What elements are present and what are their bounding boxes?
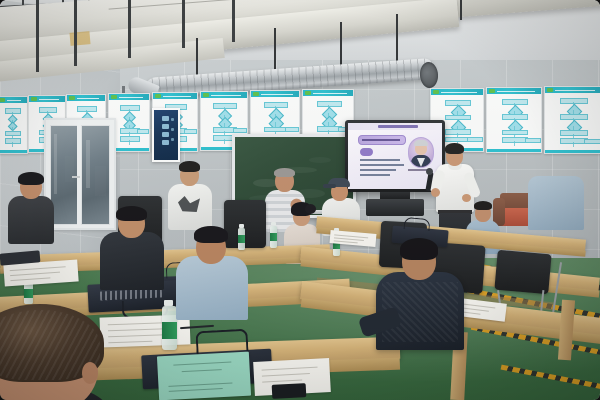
flowchart-connector bbox=[129, 140, 130, 145]
wall-poster-flowchart bbox=[544, 86, 600, 154]
poster-logo-icon bbox=[111, 95, 117, 99]
slide-section-badge bbox=[360, 148, 373, 156]
poster-footer-bar bbox=[487, 149, 541, 152]
wall-poster-flowchart bbox=[0, 96, 28, 154]
poster-logo-icon bbox=[69, 96, 75, 100]
poster-logo-icon bbox=[433, 90, 439, 94]
attendee-torso bbox=[176, 256, 248, 320]
microphone-head-icon bbox=[426, 168, 433, 175]
poster-logo-icon bbox=[0, 98, 5, 102]
attendee-hair bbox=[400, 238, 438, 260]
hair-bun bbox=[305, 204, 316, 214]
slide-body-line bbox=[360, 159, 400, 161]
flowchart-connector bbox=[224, 139, 225, 144]
door-glass-panel-left bbox=[50, 125, 79, 225]
flowchart-side-node bbox=[525, 138, 541, 143]
poster-title-text bbox=[119, 97, 143, 98]
duct-hanger-rod bbox=[182, 0, 185, 48]
duct-hanger-rod bbox=[232, 0, 235, 42]
poster-title-text bbox=[261, 94, 293, 95]
flowchart-connector bbox=[12, 142, 13, 147]
chair[interactable] bbox=[494, 250, 551, 295]
poster-logo-icon bbox=[547, 88, 553, 92]
chair[interactable] bbox=[224, 200, 266, 248]
attendee-hair bbox=[274, 168, 295, 177]
presenter-hair bbox=[445, 143, 464, 154]
screen-stand-base bbox=[366, 199, 424, 216]
duct-hanger-rod bbox=[460, 0, 462, 20]
flowchart-connector bbox=[573, 142, 574, 147]
duct-hanger-rod bbox=[36, 0, 39, 72]
poster-logo-icon bbox=[305, 91, 311, 95]
attendee-torso bbox=[528, 176, 584, 230]
door-handle[interactable] bbox=[72, 176, 80, 178]
flowchart-side-node bbox=[285, 127, 299, 132]
poster-title-text bbox=[77, 98, 99, 99]
slide-body-line bbox=[360, 164, 404, 166]
presenter-hand bbox=[431, 188, 440, 197]
portrait-hair bbox=[414, 140, 428, 146]
poster-footer-bar bbox=[0, 150, 27, 153]
attendee-hair bbox=[179, 161, 200, 172]
duct-hanger-rod bbox=[74, 0, 77, 66]
double-glass-door[interactable] bbox=[44, 118, 116, 230]
flowchart-side-node bbox=[584, 139, 600, 144]
flowchart-connector bbox=[514, 141, 515, 146]
poster-footer-bar bbox=[545, 150, 600, 153]
wall-poster-flowchart bbox=[486, 87, 542, 153]
poster-title-text bbox=[211, 95, 241, 96]
flowchart-side-node bbox=[233, 128, 247, 133]
mint-notebook[interactable] bbox=[157, 352, 251, 400]
poster-title-text bbox=[163, 96, 191, 97]
poster-title-text bbox=[39, 99, 59, 100]
poster-title-text bbox=[441, 92, 477, 93]
attendee-torso bbox=[100, 232, 164, 290]
poster-title-text bbox=[313, 93, 347, 94]
slide-title-pill bbox=[358, 135, 406, 145]
door-glass-panel-right bbox=[81, 125, 110, 225]
door-mullion bbox=[77, 123, 80, 225]
poster-logo-icon bbox=[31, 97, 37, 101]
poster-logo-icon bbox=[253, 92, 259, 96]
slide-portrait-photo bbox=[408, 137, 434, 168]
duct-hanger-rod bbox=[128, 0, 131, 58]
slide-body-line bbox=[360, 174, 390, 176]
blue-wall-banner bbox=[152, 108, 180, 162]
poster-title-text bbox=[7, 100, 21, 101]
flowchart-side-node bbox=[467, 137, 483, 142]
slide-body-line bbox=[360, 169, 396, 171]
cap-brim bbox=[323, 184, 336, 188]
duct-tape-patch bbox=[69, 31, 90, 46]
poster-logo-icon bbox=[489, 89, 495, 93]
attendee-hair bbox=[116, 206, 147, 221]
poster-title-text bbox=[497, 91, 535, 92]
attendee-ear bbox=[82, 362, 98, 384]
attendee-hair bbox=[194, 226, 228, 243]
slide-pill-text bbox=[362, 139, 400, 141]
smartphone[interactable] bbox=[272, 383, 307, 399]
poster-logo-icon bbox=[155, 94, 161, 98]
attendee-torso bbox=[8, 196, 54, 244]
attendee-hair bbox=[474, 201, 492, 210]
flowchart-side-node bbox=[137, 129, 149, 134]
flowchart-side-node bbox=[184, 129, 197, 134]
bag-handle bbox=[404, 217, 431, 231]
poster-logo-icon bbox=[203, 93, 209, 97]
slide-title-text bbox=[378, 125, 418, 128]
classroom-photo bbox=[0, 0, 600, 400]
presenter-hand-gesture bbox=[462, 194, 471, 202]
poster-title-text bbox=[555, 90, 595, 91]
attendee-hair bbox=[18, 172, 44, 185]
